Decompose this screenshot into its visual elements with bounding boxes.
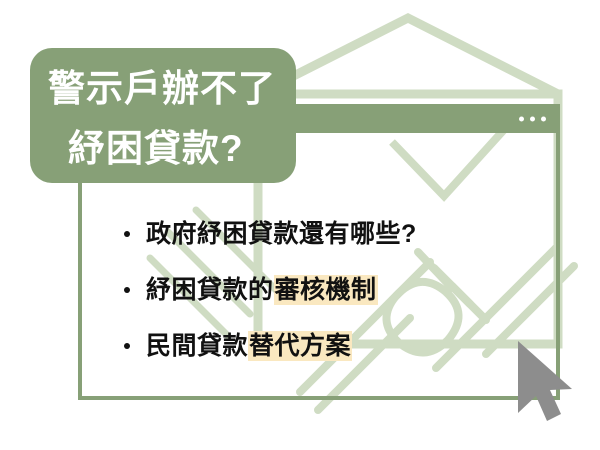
list-item[interactable]: 民間貸款替代方案 (124, 318, 544, 374)
bullet-plain-1: 政府紓困貸款還有哪些? (146, 220, 417, 248)
bullet-plain-2: 紓困貸款的 (146, 276, 274, 304)
bullet-text-3: 民間貸款替代方案 (146, 329, 352, 363)
title-badge: 警示戶辦不了 紓困貸款? (30, 48, 296, 183)
window-dot-1 (519, 116, 524, 121)
bullet-dot-icon (124, 231, 130, 237)
window-dot-3 (541, 116, 546, 121)
bullet-list: 政府紓困貸款還有哪些? 紓困貸款的審核機制 民間貸款替代方案 (124, 206, 544, 374)
bullet-dot-icon (124, 287, 130, 293)
bullet-text-1: 政府紓困貸款還有哪些? (146, 217, 417, 251)
bullet-text-2: 紓困貸款的審核機制 (146, 273, 378, 307)
bullet-highlight-3: 替代方案 (248, 331, 352, 361)
title-line-2: 紓困貸款? (46, 119, 280, 179)
bullet-highlight-2: 審核機制 (274, 275, 378, 305)
infographic-canvas: 警示戶辦不了 紓困貸款? 政府紓困貸款還有哪些? 紓困貸款的審核機制 民間貸款替… (0, 0, 600, 450)
window-menu-dots-icon[interactable] (519, 116, 546, 121)
bullet-plain-3: 民間貸款 (146, 332, 248, 360)
list-item[interactable]: 政府紓困貸款還有哪些? (124, 206, 544, 262)
title-line-1: 警示戶辦不了 (46, 59, 280, 119)
window-dot-2 (530, 116, 535, 121)
bullet-dot-icon (124, 343, 130, 349)
list-item[interactable]: 紓困貸款的審核機制 (124, 262, 544, 318)
